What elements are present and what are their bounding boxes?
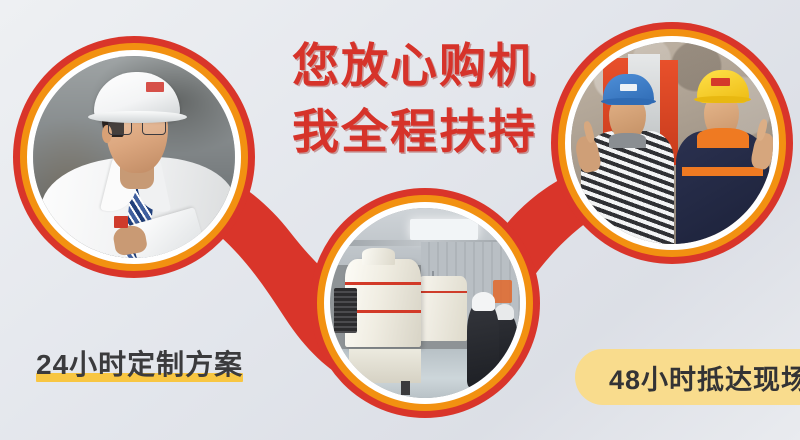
crusher-machine-secondary bbox=[417, 276, 466, 341]
uniform-orange-stripe bbox=[682, 167, 764, 175]
factory-skylight bbox=[410, 219, 478, 240]
visitor-first bbox=[467, 303, 499, 387]
headline: 您放心购机 我全程扶持 bbox=[292, 36, 537, 162]
medallion-factory bbox=[310, 188, 540, 418]
uniform-orange-yoke bbox=[697, 128, 749, 147]
hard-hat-brim bbox=[694, 96, 752, 103]
headline-line-1: 您放心购机 bbox=[292, 36, 537, 96]
medallion-ring-orange bbox=[20, 43, 248, 271]
medallion-ring-orange bbox=[317, 195, 533, 411]
caption-right-text: 48小时抵达现场 bbox=[609, 358, 800, 397]
machine-red-band bbox=[417, 291, 466, 293]
machine-vent-grille bbox=[334, 288, 357, 334]
photo-engineer bbox=[33, 56, 235, 258]
polo-collar bbox=[609, 133, 646, 148]
machine-hopper bbox=[362, 248, 395, 265]
hard-hat-logo bbox=[146, 82, 164, 92]
hard-hat-brim bbox=[88, 111, 187, 123]
machine-base-frame bbox=[349, 349, 421, 383]
worker-yellow-helmet bbox=[676, 131, 769, 244]
white-hard-hat-icon bbox=[495, 304, 514, 320]
caption-left-text: 24小时定制方案 bbox=[36, 343, 243, 383]
photo-factory bbox=[330, 208, 520, 398]
shirt-pocket-logo bbox=[114, 216, 128, 228]
hard-hat-label bbox=[620, 84, 637, 91]
medallion-engineer bbox=[13, 36, 255, 278]
caption-left: 24小时定制方案 bbox=[36, 343, 243, 383]
factory-orange-equipment bbox=[493, 280, 512, 303]
machine-red-band bbox=[345, 282, 421, 285]
medallion-ring-white bbox=[27, 50, 241, 264]
promo-banner: 您放心购机 我全程扶持 24小时定制方案 48小时抵达现场 bbox=[0, 0, 800, 440]
white-hard-hat-icon bbox=[472, 292, 495, 310]
worker-blue-helmet bbox=[581, 131, 674, 244]
photo-workers bbox=[571, 42, 773, 244]
hard-hat-logo bbox=[711, 78, 730, 86]
caption-right-pill: 48小时抵达现场 bbox=[575, 349, 800, 405]
headline-line-2: 我全程扶持 bbox=[292, 102, 537, 162]
medallion-ring-orange bbox=[558, 29, 786, 257]
medallion-workers bbox=[551, 22, 793, 264]
medallion-ring-white bbox=[565, 36, 779, 250]
medallion-ring-white bbox=[324, 202, 526, 404]
